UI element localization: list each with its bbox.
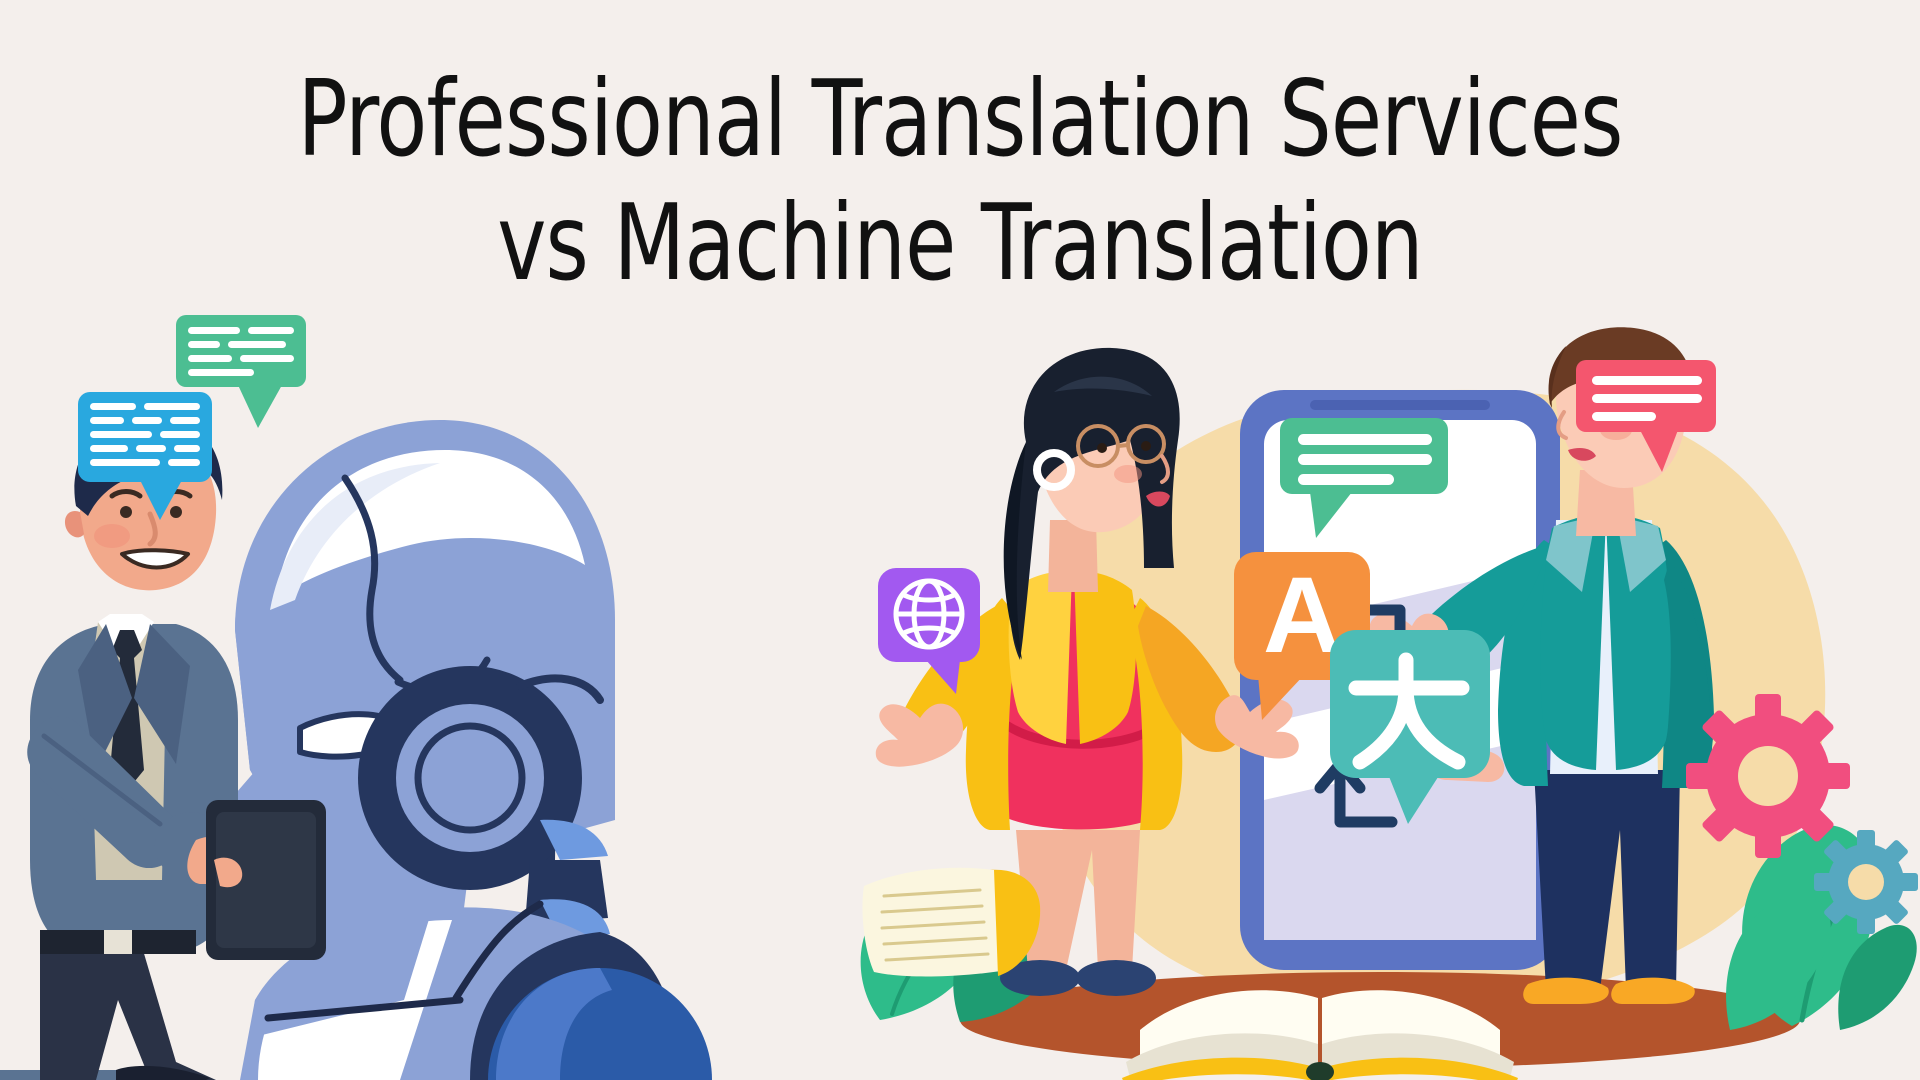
professional-translation-illustration: A <box>840 330 1920 1080</box>
page-title-line-1: Professional Translation Services <box>115 58 1805 182</box>
machine-translation-illustration <box>0 300 680 1080</box>
poster-canvas: Professional Translation Services vs Mac… <box>0 0 1920 1080</box>
gear-small-icon <box>1814 830 1918 934</box>
scroll-document <box>862 868 1040 977</box>
svg-text:A: A <box>1263 554 1341 675</box>
page-title: Professional Translation Services vs Mac… <box>115 58 1805 306</box>
gear-large-icon <box>1686 694 1850 858</box>
page-title-line-2: vs Machine Translation <box>115 182 1805 306</box>
